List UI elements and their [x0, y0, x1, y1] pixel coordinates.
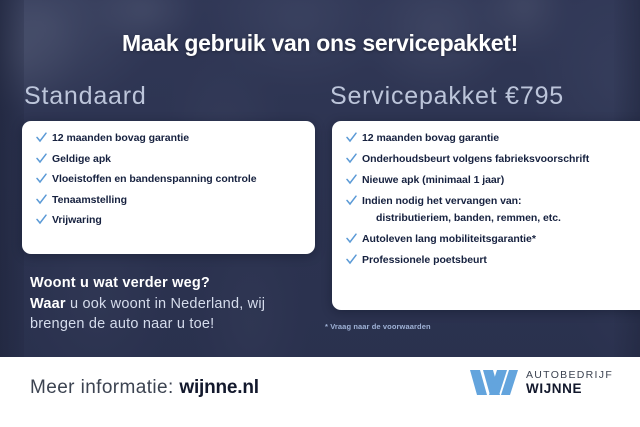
logo-line-autobedrijf: AUTOBEDRIJF	[526, 370, 613, 381]
list-item-label: Indien nodig het vervangen van:	[362, 195, 521, 207]
check-icon	[346, 233, 357, 244]
check-icon	[36, 132, 47, 143]
left-column-heading: Standaard	[24, 82, 147, 111]
promo-line-2: Waar u ook woont in Nederland, wij	[30, 294, 330, 315]
check-icon	[346, 153, 357, 164]
check-icon	[36, 194, 47, 205]
service-feature-list: 12 maanden bovag garantie Onderhoudsbeur…	[332, 121, 640, 266]
service-package-advertisement: Maak gebruik van ons servicepakket! Stan…	[0, 0, 640, 427]
logo-wordmark: AUTOBEDRIJF WIJNNE	[526, 370, 613, 395]
promo-line-3: brengen de auto naar u toe!	[30, 314, 330, 335]
list-item: Autoleven lang mobiliteitsgarantie*	[346, 233, 634, 245]
list-item-label: 12 maanden bovag garantie	[52, 132, 189, 144]
conditions-footnote: * Vraag naar de voorwaarden	[325, 322, 431, 331]
check-icon	[346, 195, 357, 206]
check-icon	[346, 254, 357, 265]
promo-line-1: Woont u wat verder weg?	[30, 273, 330, 294]
service-package-card: 12 maanden bovag garantie Onderhoudsbeur…	[332, 121, 640, 310]
standard-package-card: 12 maanden bovag garantie Geldige apk Vl…	[22, 121, 315, 254]
list-item: Onderhoudsbeurt volgens fabrieksvoorschr…	[346, 153, 634, 165]
list-item-label: Geldige apk	[52, 153, 111, 165]
list-item: Vrijwaring	[36, 214, 301, 226]
list-item: Tenaamstelling	[36, 194, 301, 206]
page-title: Maak gebruik van ons servicepakket!	[0, 30, 640, 57]
list-item-label: Nieuwe apk (minimaal 1 jaar)	[362, 174, 504, 186]
list-item: Professionele poetsbeurt	[346, 254, 634, 266]
list-item-label: Autoleven lang mobiliteitsgarantie*	[362, 233, 536, 245]
list-item: Nieuwe apk (minimaal 1 jaar)	[346, 174, 634, 186]
logo-line-wijnne: WIJNNE	[526, 382, 613, 396]
list-item-label: 12 maanden bovag garantie	[362, 132, 499, 144]
check-icon	[346, 174, 357, 185]
more-info-label: Meer informatie:	[30, 377, 179, 398]
check-icon	[36, 153, 47, 164]
list-item: Geldige apk	[36, 153, 301, 165]
wijnne-w-mark-icon	[470, 370, 518, 395]
check-icon	[36, 173, 47, 184]
list-item-continuation: distributieriem, banden, remmen, etc.	[346, 212, 634, 224]
list-item-label: Professionele poetsbeurt	[362, 254, 487, 266]
list-item-label: Vloeistoffen en bandenspanning controle	[52, 173, 257, 185]
promo-line-2-rest: u ook woont in Nederland, wij	[66, 296, 265, 312]
check-icon	[346, 132, 357, 143]
promo-emphasis: Waar	[30, 296, 66, 312]
standard-feature-list: 12 maanden bovag garantie Geldige apk Vl…	[22, 121, 315, 226]
right-column-heading: Servicepakket €795	[330, 82, 564, 111]
list-item: 12 maanden bovag garantie	[346, 132, 634, 144]
company-logo[interactable]: AUTOBEDRIJF WIJNNE	[470, 370, 613, 395]
list-item: Indien nodig het vervangen van:	[346, 195, 634, 207]
list-item-label: Onderhoudsbeurt volgens fabrieksvoorschr…	[362, 153, 589, 165]
check-icon	[36, 214, 47, 225]
delivery-promo-text: Woont u wat verder weg? Waar u ook woont…	[30, 273, 330, 335]
list-item: 12 maanden bovag garantie	[36, 132, 301, 144]
list-item: Vloeistoffen en bandenspanning controle	[36, 173, 301, 185]
website-domain[interactable]: wijnne.nl	[179, 377, 258, 398]
list-item-label: Tenaamstelling	[52, 194, 127, 206]
more-info-text: Meer informatie: wijnne.nl	[30, 377, 259, 399]
list-item-label: Vrijwaring	[52, 214, 102, 226]
